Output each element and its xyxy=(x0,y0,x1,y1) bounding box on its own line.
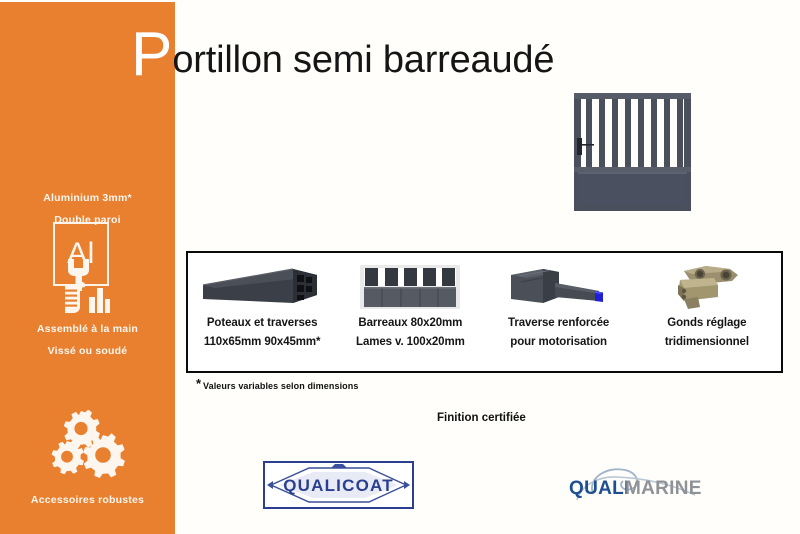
gears-icon xyxy=(48,410,128,480)
sidebar-item-accessories-line1: Accessoires robustes xyxy=(0,494,175,506)
footnote-star: * xyxy=(196,377,201,390)
poster-canvas: Al Aluminium 3mm* Double paroi xyxy=(0,0,800,534)
post-profile-icon xyxy=(197,259,327,315)
feature-barreaux-line1: Barreaux 80x20mm xyxy=(358,317,462,329)
sidebar-item-aluminium-line1: Aluminium 3mm* xyxy=(0,192,175,204)
feature-poteaux-traverses-line2: 110x65mm 90x45mm* xyxy=(204,336,321,348)
footnote: *Valeurs variables selon dimensions xyxy=(203,381,358,391)
sidebar-item-aluminium-line2: Double paroi xyxy=(0,214,175,226)
feature-traverse-renforcee-line2: pour motorisation xyxy=(510,336,607,348)
feature-traverse-renforcee: Traverse renforcée pour motorisation xyxy=(485,253,633,371)
feature-gonds: Gonds réglage tridimensionnel xyxy=(633,253,781,371)
feature-gonds-line2: tridimensionnel xyxy=(665,336,749,348)
feature-poteaux-traverses: Poteaux et traverses 110x65mm 90x45mm* xyxy=(188,253,336,371)
qualicoat-logo: QUALICOAT QUALICOAT xyxy=(263,461,414,509)
gate-illustration xyxy=(571,88,698,215)
sidebar-item-assembly-line1: Assemblé à la main xyxy=(0,323,175,335)
page-title: Portillon semi barreaudé xyxy=(131,24,554,86)
page-title-rest: ortillon semi barreaudé xyxy=(172,39,554,81)
page-title-initial: P xyxy=(131,20,172,89)
sidebar-item-assembly-line2: Vissé ou soudé xyxy=(0,345,175,357)
features-panel: Poteaux et traverses 110x65mm 90x45mm* xyxy=(186,251,783,373)
feature-barreaux: Barreaux 80x20mm Lames v. 100x20mm xyxy=(336,253,484,371)
feature-barreaux-line2: Lames v. 100x20mm xyxy=(356,336,465,348)
svg-text:QUALICOAT: QUALICOAT xyxy=(283,476,394,495)
bars-slats-sample-icon xyxy=(358,259,462,315)
svg-text:MARINE: MARINE xyxy=(625,478,702,499)
certification-heading: Finition certifiée xyxy=(437,412,526,424)
qualimarine-logo: QUALI MARINE QUALI MARINE xyxy=(563,464,709,508)
feature-traverse-renforcee-line1: Traverse renforcée xyxy=(508,317,609,329)
feature-gonds-line1: Gonds réglage xyxy=(667,317,746,329)
feature-poteaux-traverses-line1: Poteaux et traverses xyxy=(207,317,318,329)
svg-text:QUALI: QUALI xyxy=(569,478,630,499)
reinforced-crossbar-icon xyxy=(499,259,619,315)
hand-wrench-icon xyxy=(52,255,122,317)
footnote-text: Valeurs variables selon dimensions xyxy=(203,381,358,391)
hinge-bracket-icon xyxy=(662,259,752,315)
